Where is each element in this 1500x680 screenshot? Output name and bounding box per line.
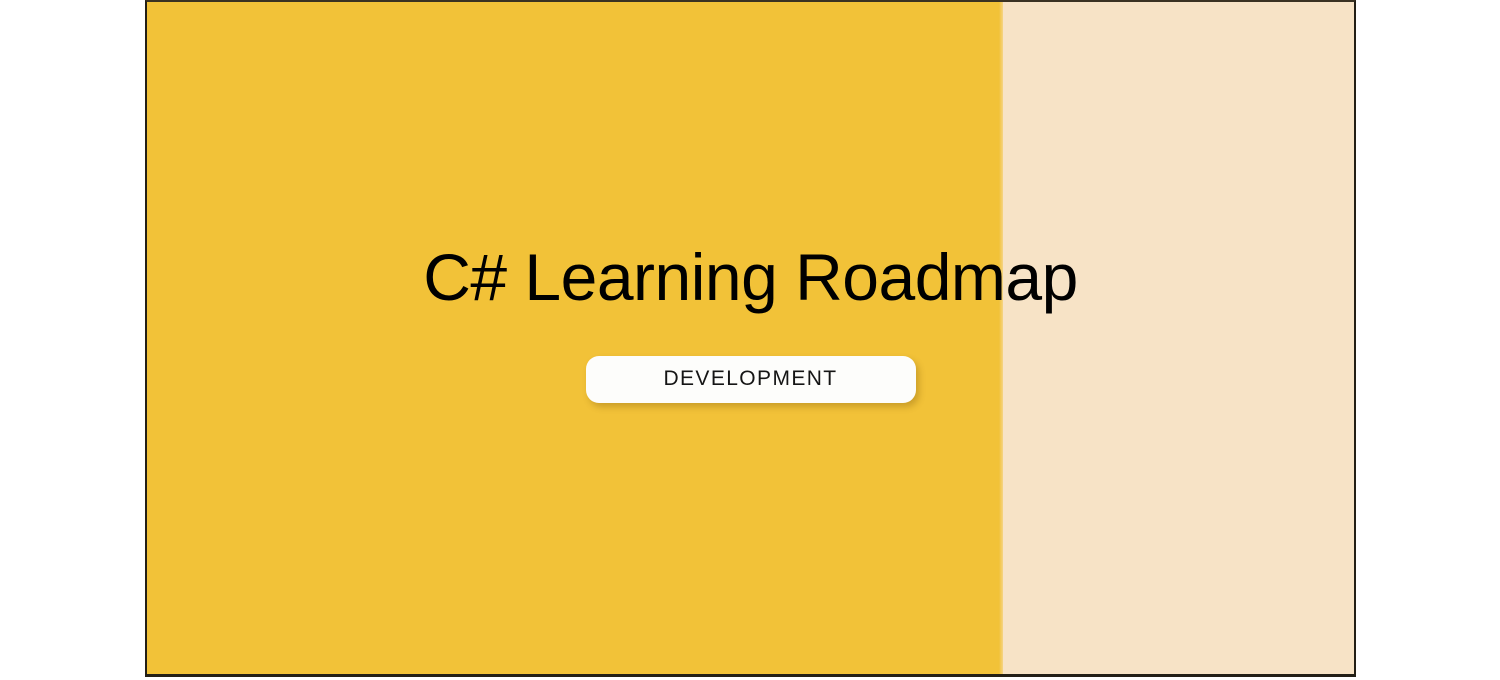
slide-content: C# Learning Roadmap DEVELOPMENT	[147, 2, 1354, 674]
development-badge: DEVELOPMENT	[586, 356, 916, 403]
badge-wrapper: DEVELOPMENT	[147, 356, 1354, 403]
presentation-slide: C# Learning Roadmap DEVELOPMENT	[145, 0, 1356, 677]
slide-canvas: C# Learning Roadmap DEVELOPMENT	[0, 0, 1500, 680]
slide-title: C# Learning Roadmap	[147, 236, 1356, 318]
